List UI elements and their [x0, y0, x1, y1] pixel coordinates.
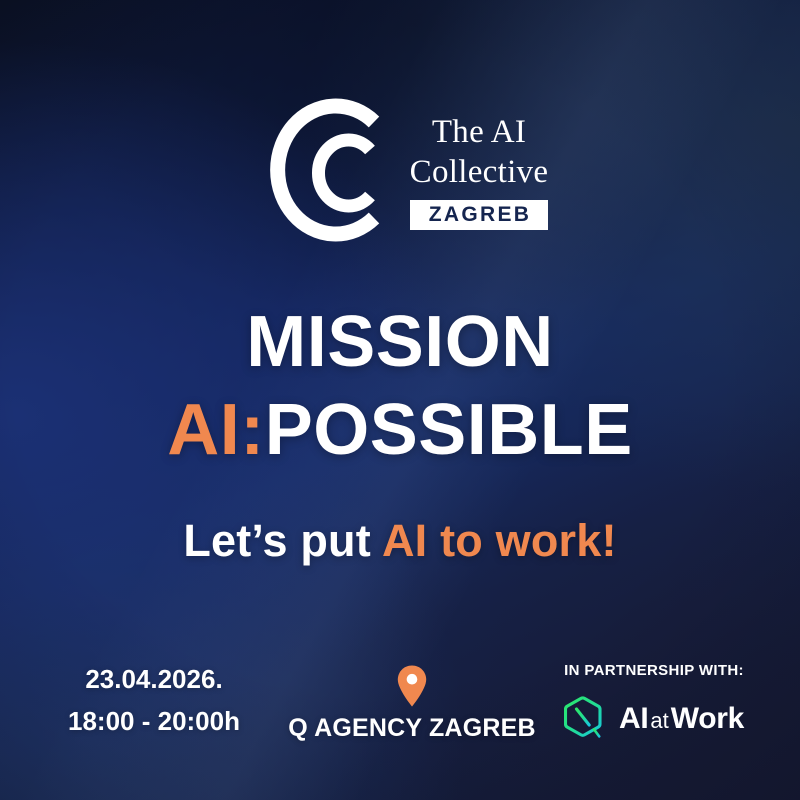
brand-lockup: The AI Collective ZAGREB [0, 92, 800, 248]
brand-name-line-2: Collective [410, 154, 549, 191]
partner-wordmark-ai: AI [619, 702, 648, 735]
event-poster: The AI Collective ZAGREB MISSION AI:POSS… [0, 0, 800, 800]
poster-content: The AI Collective ZAGREB MISSION AI:POSS… [0, 0, 800, 800]
brand-wordmark: The AI Collective ZAGREB [410, 110, 549, 230]
partner-wordmark-work: Work [671, 702, 744, 735]
tagline: Let’s put AI to work! [0, 518, 800, 563]
brand-name-line-1: The AI [432, 114, 526, 151]
headline-line-1: MISSION [0, 306, 800, 378]
venue-name: Q AGENCY ZAGREB [288, 715, 535, 743]
partnership-label: IN PARTNERSHIP WITH: [564, 662, 744, 679]
headline-rest: POSSIBLE [265, 390, 633, 470]
tagline-accent: AI to work! [382, 515, 617, 566]
tagline-plain: Let’s put [183, 515, 382, 566]
partner-wordmark-at: at [648, 708, 670, 733]
map-pin-icon [397, 665, 427, 707]
event-datetime: 23.04.2026. 18:00 - 20:00h [38, 658, 270, 742]
partner-wordmark: AIatWork [619, 704, 744, 734]
collective-c-logo-icon [252, 92, 384, 248]
event-date: 23.04.2026. [85, 658, 222, 700]
headline-accent: AI: [167, 390, 264, 470]
page-title: MISSION AI:POSSIBLE [0, 306, 800, 466]
event-time: 18:00 - 20:00h [68, 700, 240, 742]
headline-line-2: AI:POSSIBLE [0, 394, 800, 466]
ai-at-work-hexagon-icon [564, 696, 608, 742]
partner-logo-lockup: AIatWork [564, 696, 744, 742]
chapter-badge: ZAGREB [410, 200, 549, 230]
partnership-block: IN PARTNERSHIP WITH: [536, 662, 772, 742]
event-location: Q AGENCY ZAGREB [278, 665, 546, 743]
footer-details: 23.04.2026. 18:00 - 20:00h Q AGENCY ZAGR… [0, 642, 800, 762]
